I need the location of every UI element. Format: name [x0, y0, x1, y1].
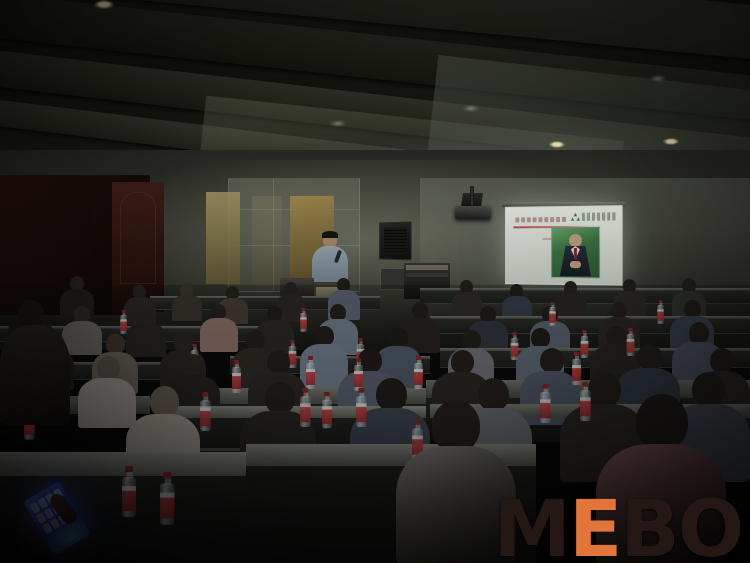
audience-person-foreground — [0, 300, 70, 420]
projector-icon — [455, 206, 491, 219]
rack-unit — [406, 265, 448, 270]
wall-panel-left — [206, 192, 240, 284]
pa-speaker-icon — [379, 222, 412, 261]
slide-logo-text — [582, 212, 615, 220]
downlight-icon — [650, 75, 666, 82]
audience-person — [172, 283, 202, 319]
projector-pole — [470, 186, 474, 208]
logo-mark-icon — [571, 213, 580, 221]
downlight-icon — [330, 120, 346, 127]
slide-title-text — [515, 217, 566, 222]
downlight-icon — [463, 105, 479, 112]
slide-logo — [571, 212, 615, 222]
audience-person-foreground — [596, 394, 726, 563]
rack-unit — [406, 273, 448, 277]
audience-person-foreground — [396, 400, 516, 563]
downlight-icon — [663, 138, 679, 145]
slide-portrait-photo — [551, 227, 600, 279]
downlight-icon — [94, 0, 114, 9]
downlight-icon — [549, 141, 565, 148]
wall-panel-inner — [252, 196, 282, 284]
projection-screen — [505, 205, 623, 286]
desk-top-front — [0, 452, 270, 476]
photo-scene: M E B O — [0, 0, 750, 563]
